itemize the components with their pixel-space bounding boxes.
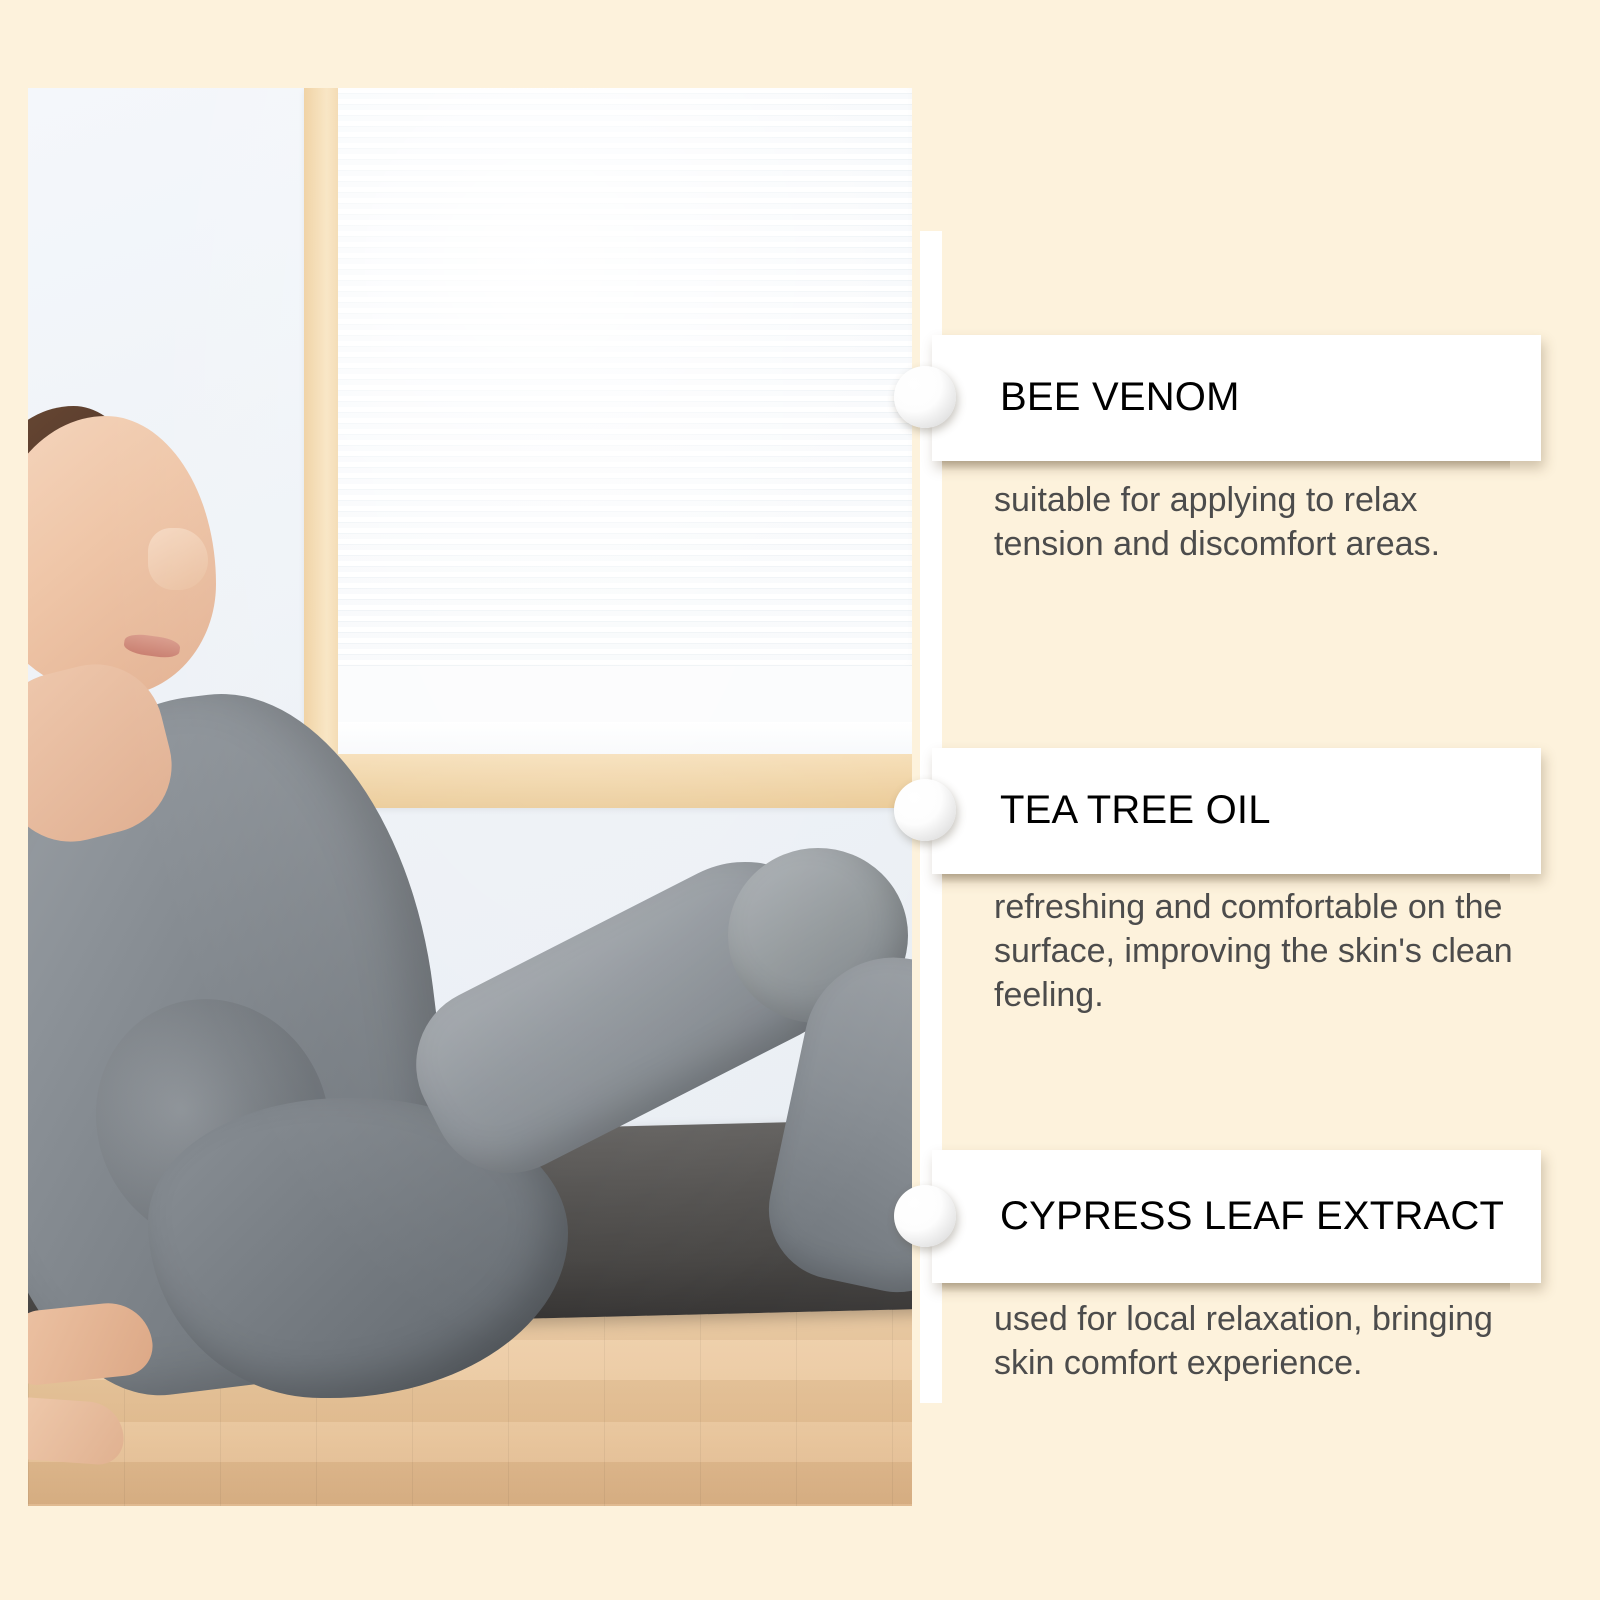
bullet-dot-icon-3 — [894, 1185, 956, 1247]
window-sill — [338, 722, 912, 756]
ingredient-body-shadow-1 — [942, 461, 1510, 471]
ingredient-title-1: BEE VENOM — [932, 375, 1240, 421]
bullet-dot-icon-1 — [894, 366, 956, 428]
ingredient-description-2: refreshing and comfortable on the surfac… — [994, 885, 1514, 1018]
bullet-dot-icon-2 — [894, 779, 956, 841]
product-lifestyle-photo — [28, 88, 912, 1506]
window-left-jamb — [304, 88, 342, 808]
ingredient-description-1: suitable for applying to relax tension a… — [994, 478, 1534, 566]
ingredient-title-bar-3: CYPRESS LEAF EXTRACT — [932, 1150, 1541, 1283]
ingredient-title-3: CYPRESS LEAF EXTRACT — [932, 1194, 1504, 1240]
window-bottom-rail — [304, 754, 912, 808]
blind-light-glow — [338, 88, 912, 666]
ingredient-title-bar-1: BEE VENOM — [932, 335, 1541, 461]
window-frame — [304, 88, 912, 808]
ingredient-description-3: used for local relaxation, bringing skin… — [994, 1297, 1494, 1385]
ingredient-title-2: TEA TREE OIL — [932, 788, 1271, 834]
infographic-canvas: BEE VENOM suitable for applying to relax… — [0, 0, 1600, 1600]
ingredient-body-shadow-3 — [942, 1283, 1510, 1293]
ingredient-title-bar-2: TEA TREE OIL — [932, 748, 1541, 874]
person-nose — [148, 528, 208, 590]
window-glass-area — [338, 88, 912, 722]
ingredient-body-shadow-2 — [942, 874, 1510, 884]
